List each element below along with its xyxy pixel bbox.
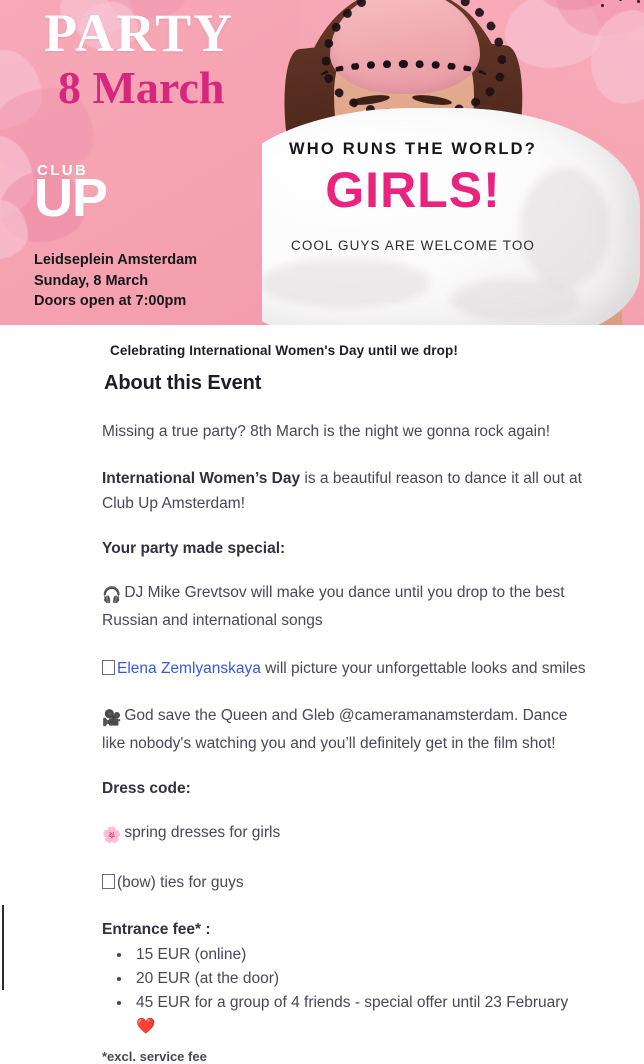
party-special-label: Your party made special: (102, 540, 589, 558)
special-item-photographer-text: will picture your unforgettable looks an… (261, 660, 586, 677)
banner-title: PARTY (44, 6, 234, 60)
dress-code-label: Dress code: (102, 780, 589, 798)
special-item-videographer-text: God save the Queen and Gleb @cameramanam… (102, 707, 567, 752)
special-item-dj: 🎧DJ Mike Grevtsov will make you dance un… (102, 580, 589, 633)
banner-headline: PARTY 8 March (44, 6, 234, 112)
event-tagline: Celebrating International Women's Day un… (0, 325, 644, 358)
entrance-fee-label: Entrance fee* : (102, 921, 589, 939)
banner-date-title: 8 March (58, 64, 234, 112)
sleep-mask-strap (320, 60, 488, 94)
event-description-section: Celebrating International Women's Day un… (0, 325, 644, 1064)
dress-code-guys-text: (bow) ties for guys (117, 874, 244, 891)
intro-paragraph: Missing a true party? 8th March is the n… (102, 419, 589, 444)
event-body: Missing a true party? 8th March is the n… (0, 419, 644, 1064)
womens-day-paragraph: International Women’s Day is a beautiful… (102, 466, 589, 516)
dress-code-girls-text: spring dresses for girls (124, 824, 280, 841)
pillow-slogan: WHO RUNS THE WORLD? GIRLS! COOL GUYS ARE… (248, 140, 578, 253)
pillow-subline: COOL GUYS ARE WELCOME TOO (248, 238, 578, 253)
dress-code-girls: 🌸spring dresses for girls (102, 820, 589, 848)
page-edge-line (2, 905, 4, 990)
about-this-event-heading: About this Event (0, 372, 644, 395)
event-hero-banner: WHO RUNS THE WORLD? GIRLS! COOL GUYS ARE… (0, 0, 644, 325)
video-camera-icon: 🎥 (102, 706, 121, 731)
venue-info: Leidseplein Amsterdam Sunday, 8 March Do… (34, 250, 197, 312)
service-fee-footnote: *excl. service fee (102, 1049, 589, 1064)
entrance-fee-list: 15 EUR (online) 20 EUR (at the door) 45 … (102, 943, 589, 1039)
list-item: 15 EUR (online) (132, 943, 589, 967)
special-item-photographer: Elena Zemlyanskaya will picture your unf… (102, 656, 589, 681)
missing-glyph-box-icon (102, 660, 115, 675)
missing-glyph-box-icon-2 (102, 874, 115, 889)
sleep-mask-ruffle (322, 0, 506, 118)
pillow-answer: GIRLS! (248, 164, 578, 216)
elena-zemlyanskaya-link[interactable]: Elena Zemlyanskaya (117, 660, 261, 677)
dress-code-guys: (bow) ties for guys (102, 870, 589, 895)
special-item-dj-text: DJ Mike Grevtsov will make you dance unt… (102, 584, 565, 629)
pillow-question: WHO RUNS THE WORLD? (248, 140, 578, 159)
womens-day-bold: International Women’s Day (102, 470, 300, 487)
list-item: 20 EUR (at the door) (132, 967, 589, 991)
venue-doors: Doors open at 7:00pm (34, 291, 197, 312)
headphone-music-note-icon: 🎧 (102, 583, 121, 608)
venue-location: Leidseplein Amsterdam (34, 250, 197, 271)
list-item: 45 EUR for a group of 4 friends - specia… (132, 991, 589, 1039)
venue-date: Sunday, 8 March (34, 271, 197, 292)
cherry-blossom-icon: 🌸 (102, 823, 121, 848)
special-item-videographer: 🎥God save the Queen and Gleb @cameramana… (102, 703, 589, 756)
club-up-logo[interactable]: CLUB UP (34, 163, 107, 220)
logo-up-text: UP (34, 176, 107, 220)
